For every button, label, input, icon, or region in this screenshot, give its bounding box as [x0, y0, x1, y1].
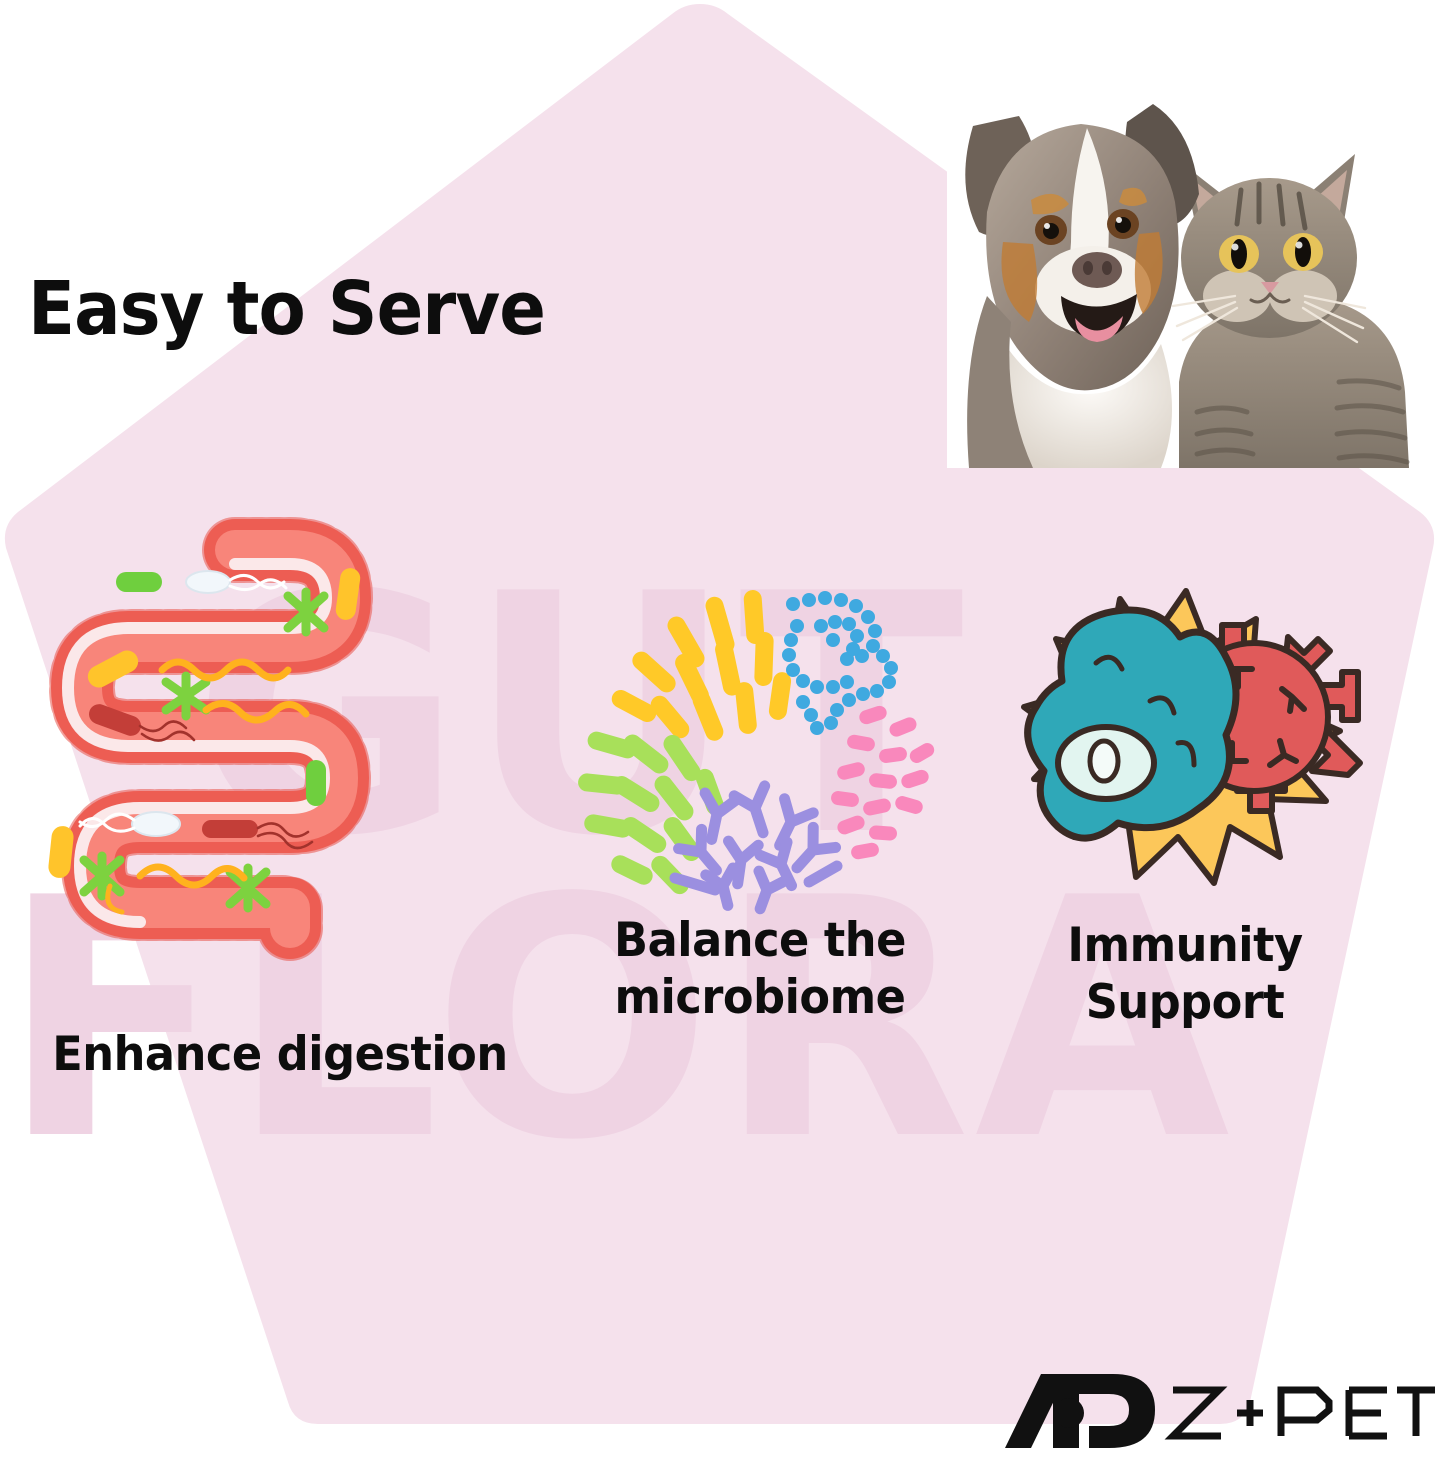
brand-logo	[1005, 1368, 1395, 1452]
intestine-illustration	[0, 520, 570, 950]
label-line-2: Support	[1009, 974, 1361, 1031]
feature-enhance-digestion: Enhance digestion	[0, 520, 570, 950]
bacteria-cluster-yellow	[609, 589, 793, 743]
page-title: Easy to Serve	[28, 266, 545, 352]
label-line-2: microbiome	[575, 969, 946, 1026]
bacteria-cluster-pink	[830, 704, 937, 860]
feature-label-immunity-support: Immunity Support	[1009, 917, 1361, 1032]
feature-label-balance-microbiome: Balance the microbiome	[575, 912, 946, 1027]
zpet-logo-mark	[1005, 1374, 1155, 1448]
feature-immunity-support: Immunity Support	[1000, 565, 1370, 905]
feature-label-enhance-digestion: Enhance digestion	[5, 1026, 556, 1083]
infographic-canvas: GUT FLORA Easy to Serve	[0, 0, 1445, 1464]
dog-figure	[965, 104, 1199, 468]
microbiome-ring-illustration	[565, 560, 955, 900]
pet-photo	[947, 82, 1445, 468]
label-line-1: Immunity	[1009, 917, 1361, 974]
immune-cell-virus-illustration	[1000, 565, 1370, 905]
label-line-1: Balance the	[575, 912, 946, 969]
feature-balance-microbiome: Balance the microbiome	[565, 560, 955, 900]
bacteria-cluster-purple	[675, 786, 837, 914]
